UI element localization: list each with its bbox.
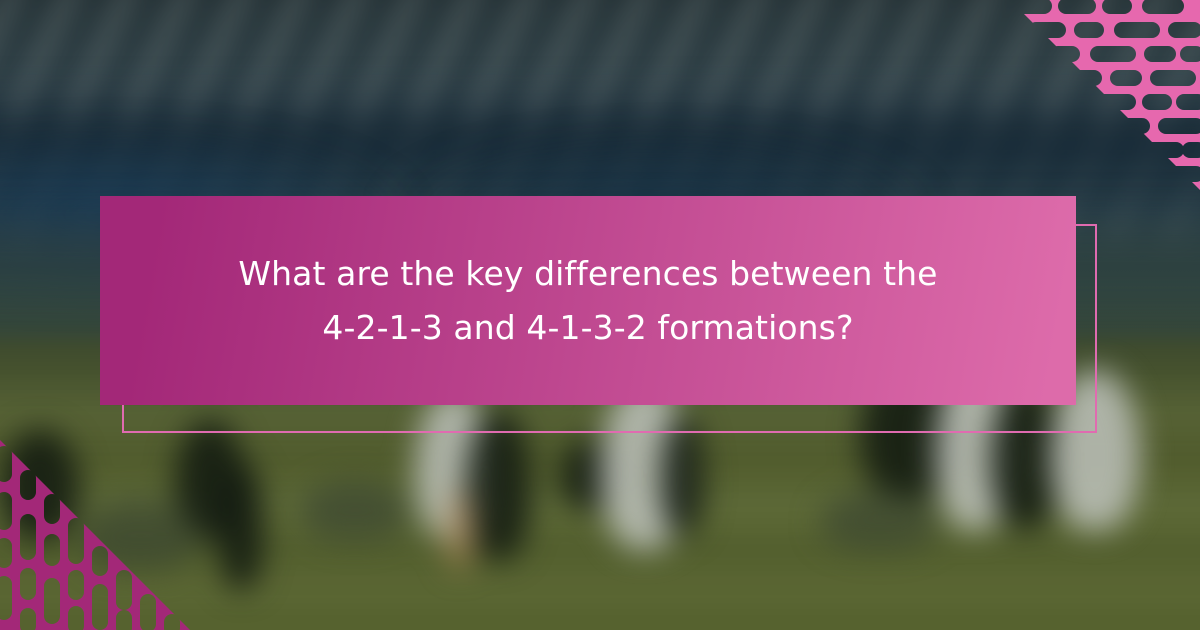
question-text: What are the key differences between the…	[238, 247, 937, 355]
question-card-canvas: What are the key differences between the…	[0, 0, 1200, 630]
question-banner: What are the key differences between the…	[100, 196, 1076, 405]
